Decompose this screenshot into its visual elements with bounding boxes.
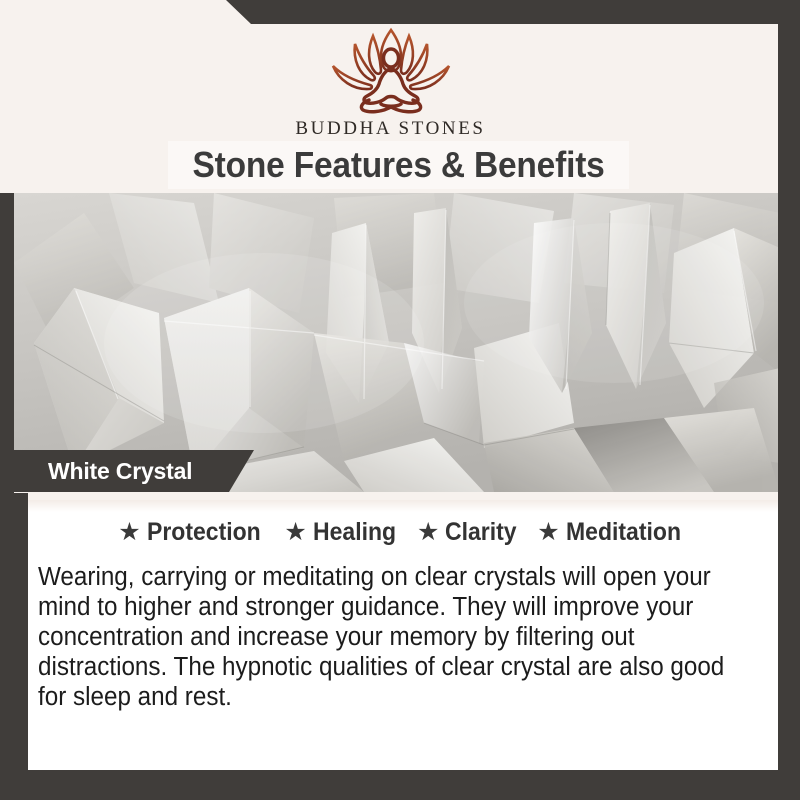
page-title: Stone Features & Benefits xyxy=(192,144,604,186)
white-crystal-cluster-photo xyxy=(14,193,780,492)
frame-left-lower-bar xyxy=(0,493,28,771)
star-icon: ★ xyxy=(417,520,439,545)
title-banner: Stone Features & Benefits xyxy=(168,141,629,189)
content-top-fade xyxy=(28,500,781,512)
description-text: Wearing, carrying or meditating on clear… xyxy=(38,562,727,712)
frame-bottom-bar xyxy=(0,770,800,800)
lotus-meditation-icon xyxy=(323,22,459,114)
benefit-label-clarity: Clarity xyxy=(445,518,517,547)
crystal-illustration xyxy=(14,193,780,492)
content-section: ★ Protection ★ Healing ★ Clarity ★ Medit… xyxy=(28,500,781,771)
benefits-row: ★ Protection ★ Healing ★ Clarity ★ Medit… xyxy=(28,518,781,547)
benefit-item: ★ Meditation xyxy=(537,518,690,547)
benefit-item: ★ Protection xyxy=(118,518,270,547)
brand-name: BUDDHA STONES xyxy=(295,118,485,140)
star-icon: ★ xyxy=(118,520,140,545)
benefit-label-healing: Healing xyxy=(313,518,396,547)
benefit-label-meditation: Meditation xyxy=(566,518,681,547)
stone-name-label: White Crystal xyxy=(48,458,192,485)
benefit-item: ★ Clarity xyxy=(417,518,523,547)
frame-left-upper-bar xyxy=(0,193,14,493)
frame-right-bar xyxy=(778,0,800,800)
infographic-card: BUDDHA STONES Stone Features & Benefits xyxy=(0,0,800,800)
star-icon: ★ xyxy=(537,520,559,545)
brand-logo: BUDDHA STONES xyxy=(0,22,781,140)
star-icon: ★ xyxy=(284,520,306,545)
stone-name-badge: White Crystal xyxy=(14,450,254,492)
benefit-item: ★ Healing xyxy=(284,518,403,547)
benefit-label-protection: Protection xyxy=(147,518,261,547)
